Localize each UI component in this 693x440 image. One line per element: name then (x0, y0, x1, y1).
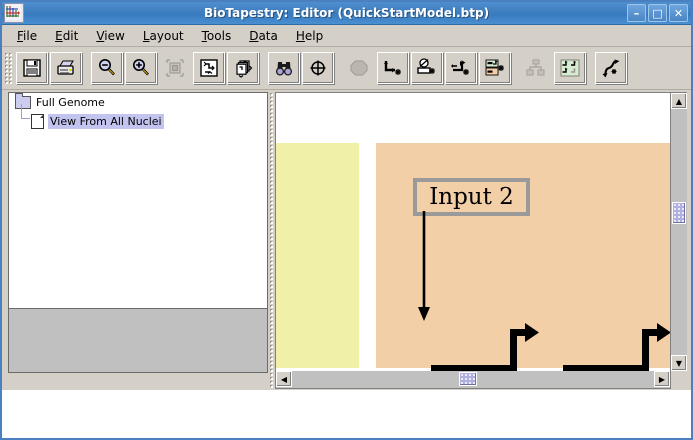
scroll-down-button[interactable]: ▼ (671, 355, 687, 371)
print-button[interactable] (50, 52, 82, 84)
magnifier-minus-icon (96, 57, 118, 79)
gene-a-glyph[interactable] (431, 321, 541, 371)
add-region-button[interactable] (479, 52, 511, 84)
menu-view[interactable]: View (87, 27, 133, 45)
main-content: Full Genome View From All Nuclei Input 2 (2, 90, 691, 389)
menu-edit[interactable]: Edit (46, 27, 87, 45)
menu-file-rest: ile (23, 29, 37, 43)
toolbar-drag-handle[interactable] (4, 52, 12, 84)
canvas-vertical-scrollbar[interactable]: ▲ ▼ (670, 93, 687, 371)
floppy-disk-icon (21, 57, 43, 79)
overview-panel (8, 309, 268, 373)
vertical-scroll-track[interactable] (671, 109, 687, 355)
zoom-to-model-button[interactable] (193, 52, 225, 84)
toolbar (2, 47, 691, 90)
octagon-node-icon (348, 57, 370, 79)
status-text (2, 434, 14, 438)
menu-edit-rest: dit (63, 29, 79, 43)
printer-icon (55, 57, 77, 79)
bubble-new-icon (382, 57, 404, 79)
horizontal-scrollbar-row: ◀ ▶ (275, 371, 687, 389)
menu-layout-mnemonic: L (143, 29, 150, 43)
zoom-in-button[interactable] (125, 52, 157, 84)
right-pane: Input 2 (275, 92, 691, 389)
biotapestry-logo-icon[interactable] (4, 3, 24, 23)
canvas-container: Input 2 (275, 92, 687, 371)
add-node-button[interactable] (343, 52, 375, 84)
add-gene-button[interactable] (445, 52, 477, 84)
zoom-out-button[interactable] (91, 52, 123, 84)
zoom-to-all-models-icon (232, 57, 254, 79)
window-controls: – □ ✕ (627, 4, 688, 22)
zoom-to-model-icon (198, 57, 220, 79)
menu-data-rest: ata (258, 29, 277, 43)
menu-layout-rest: ayout (150, 29, 184, 43)
region-yellow[interactable] (276, 143, 359, 368)
menu-tools[interactable]: Tools (193, 27, 241, 45)
link-input2-to-gene-a[interactable] (409, 211, 439, 323)
zoom-to-item-icon (164, 57, 186, 79)
tree-item-view-from-all-nuclei[interactable]: View From All Nuclei (9, 112, 267, 131)
horizontal-scroll-track[interactable] (292, 371, 654, 388)
center-on-selection-button[interactable] (302, 52, 334, 84)
crosshair-icon (307, 57, 329, 79)
menu-view-rest: iew (104, 29, 125, 43)
maximize-button[interactable]: □ (648, 4, 667, 22)
menu-edit-mnemonic: E (55, 29, 63, 43)
zoom-to-selection-button[interactable] (159, 52, 191, 84)
link-new-icon (600, 57, 622, 79)
minimize-button[interactable]: – (627, 4, 646, 22)
menu-help[interactable]: Help (287, 27, 332, 45)
horizontal-scroll-thumb[interactable] (459, 372, 477, 386)
find-button[interactable] (268, 52, 300, 84)
menu-layout[interactable]: Layout (134, 27, 193, 45)
canvas-horizontal-scrollbar[interactable]: ◀ ▶ (275, 371, 671, 389)
tree-item-full-genome[interactable]: Full Genome (9, 93, 267, 112)
gene-b-glyph[interactable] (563, 321, 670, 371)
menu-tools-rest: ools (207, 29, 231, 43)
menu-help-rest: elp (305, 29, 323, 43)
scrollbar-corner (671, 371, 687, 389)
magnifier-plus-icon (130, 57, 152, 79)
left-pane: Full Genome View From All Nuclei (2, 92, 268, 389)
add-genome-instance-button[interactable] (554, 52, 586, 84)
scroll-left-button[interactable]: ◀ (276, 371, 292, 387)
tree-item-view-from-all-nuclei-label: View From All Nuclei (48, 114, 164, 129)
vertical-scroll-thumb[interactable] (672, 202, 686, 224)
title-bar[interactable]: BioTapestry: Editor (QuickStartModel.btp… (2, 2, 691, 25)
status-bar (2, 389, 691, 438)
gene-new-icon (450, 57, 472, 79)
network-canvas[interactable]: Input 2 (276, 93, 670, 371)
pane-splitter[interactable] (269, 92, 274, 389)
box-new-icon (416, 57, 438, 79)
scroll-right-button[interactable]: ▶ (654, 371, 670, 387)
add-slash-node-button[interactable] (411, 52, 443, 84)
tree-item-full-genome-label: Full Genome (36, 96, 105, 109)
scroll-up-button[interactable]: ▲ (671, 93, 687, 109)
genome-instance-icon (559, 57, 581, 79)
region-new-icon (484, 57, 506, 79)
application-window: BioTapestry: Editor (QuickStartModel.btp… (0, 0, 693, 440)
menu-file[interactable]: File (8, 27, 46, 45)
model-tree[interactable]: Full Genome View From All Nuclei (8, 92, 268, 309)
add-link-button[interactable] (595, 52, 627, 84)
window-title: BioTapestry: Editor (QuickStartModel.btp… (2, 6, 691, 20)
menu-data[interactable]: Data (240, 27, 287, 45)
menu-bar: File Edit View Layout Tools Data Help (2, 25, 691, 47)
document-icon (31, 114, 44, 129)
binoculars-icon (273, 57, 295, 79)
zoom-to-all-models-button[interactable] (227, 52, 259, 84)
add-bubble-button[interactable] (377, 52, 409, 84)
node-input-2-label: Input 2 (429, 184, 514, 210)
close-button[interactable]: ✕ (669, 4, 688, 22)
save-button[interactable] (16, 52, 48, 84)
add-submodel-button[interactable] (520, 52, 552, 84)
menu-help-mnemonic: H (296, 29, 305, 43)
model-tree-add-icon (525, 57, 547, 79)
